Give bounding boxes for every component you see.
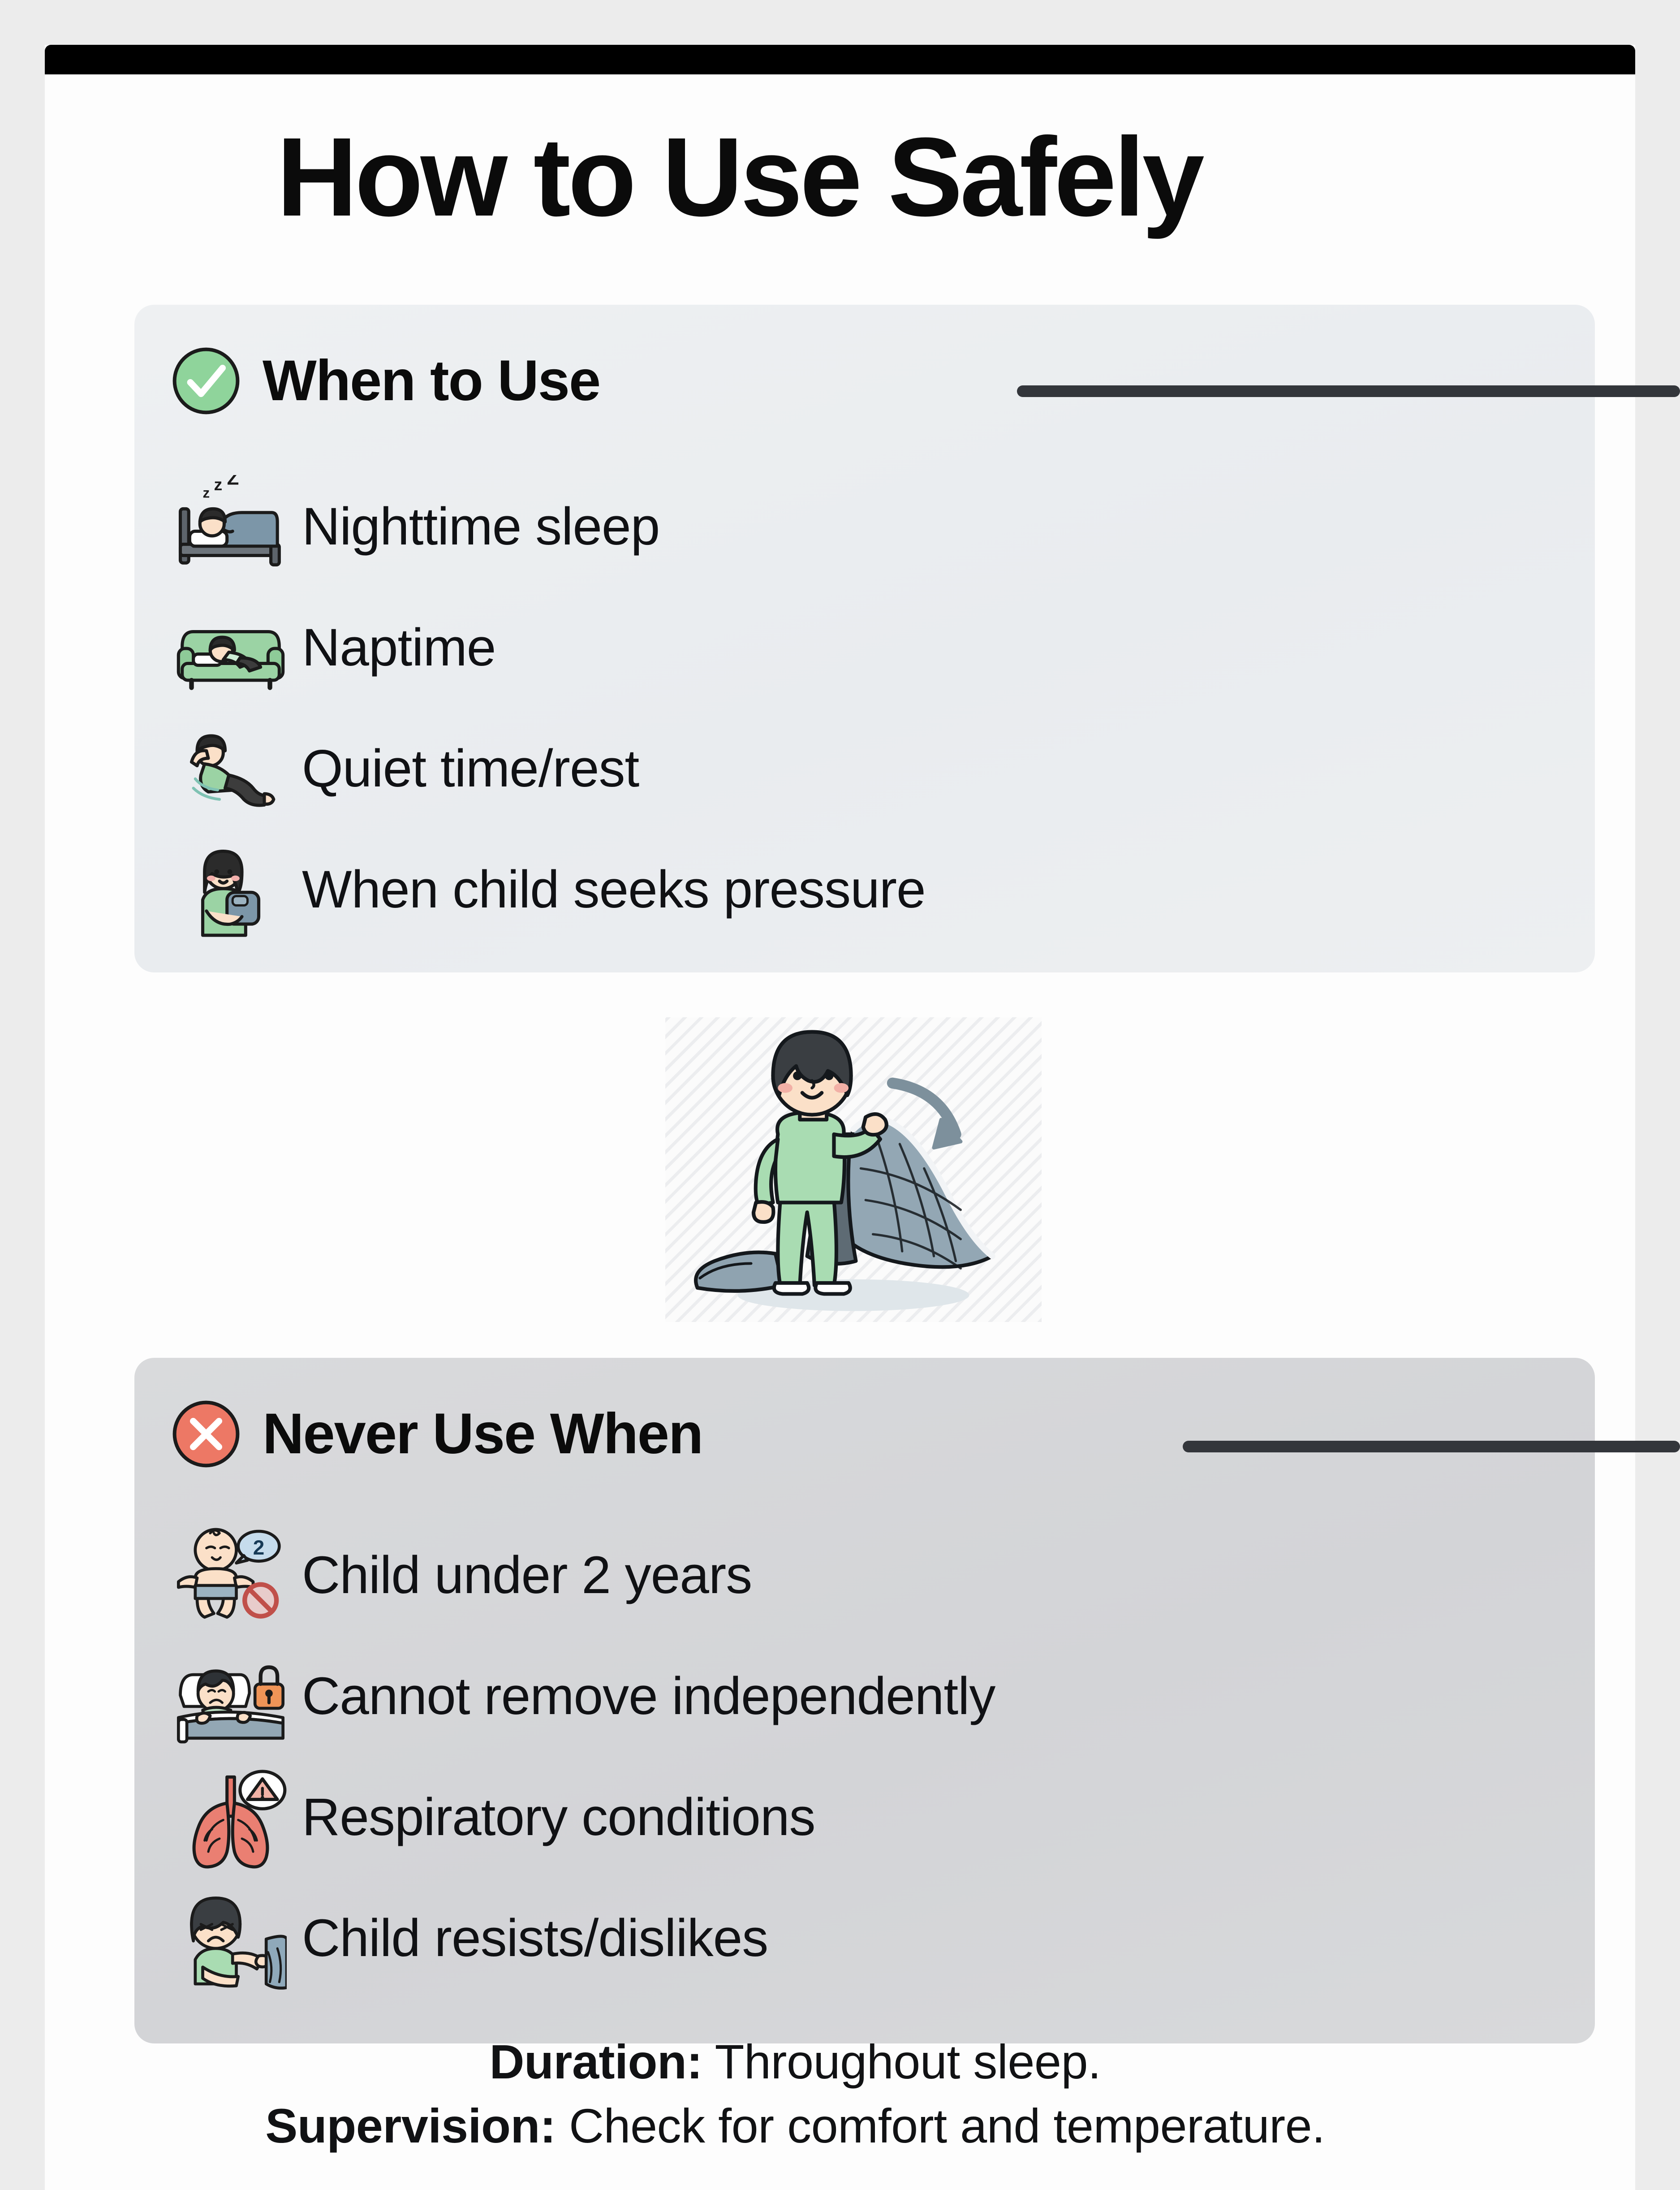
list-item-label: Respiratory conditions [302,1791,815,1844]
list-item-label: Child resists/dislikes [302,1912,768,1965]
child-hugging-blanket-icon [175,838,287,941]
section-card-when-to-use: When to Use [134,305,1595,972]
page-title: How to Use Safely [45,121,1434,233]
svg-text:Z: Z [227,475,239,489]
list-item: z z Z Nighttime sleep [175,466,1564,587]
svg-text:2: 2 [253,1536,265,1559]
list-item: 2 Child under 2 years [175,1515,1564,1636]
poster-surface: How to Use Safely When to Use [45,45,1635,2190]
svg-text:z: z [203,485,210,501]
check-circle-icon [170,345,242,417]
duration-value: Throughout sleep. [715,2034,1101,2089]
list-when-to-use: z z Z Nighttime sleep [175,466,1564,950]
child-in-bed-locked-icon [175,1645,287,1748]
section-divider-never-use-when [1183,1441,1680,1452]
top-accent-bar [45,45,1635,74]
section-title-never-use-when: Never Use When [263,1405,702,1463]
person-resting-icon [175,717,287,820]
list-item-label: Child under 2 years [302,1549,752,1602]
list-item: Child resists/dislikes [175,1878,1564,1999]
supervision-label: Supervision: [265,2099,556,2153]
supervision-value: Check for comfort and temperature. [569,2099,1325,2153]
duration-label: Duration: [489,2034,702,2089]
list-item-label: Naptime [302,621,495,674]
list-item-label: When child seeks pressure [302,863,926,916]
list-item: Naptime [175,587,1564,708]
section-header-never-use-when: Never Use When [170,1398,702,1470]
section-card-never-use-when: Never Use When [134,1358,1595,2043]
person-in-bed-icon: z z Z [175,475,287,578]
svg-text:z: z [214,475,223,494]
section-title-when-to-use: When to Use [263,352,600,410]
list-item-label: Cannot remove independently [302,1670,995,1723]
list-item: Respiratory conditions [175,1757,1564,1878]
section-divider-when-to-use [1017,385,1680,397]
list-item-label: Quiet time/rest [302,742,639,795]
child-removing-weighted-blanket-illustration [665,1017,1042,1322]
list-item: When child seeks pressure [175,829,1564,950]
person-on-couch-icon [175,596,287,699]
baby-age-two-prohibited-icon: 2 [175,1524,287,1627]
section-header-when-to-use: When to Use [170,345,600,417]
x-circle-icon [170,1398,242,1470]
list-never-use-when: 2 Child under 2 years [175,1515,1564,1999]
lungs-warning-icon [175,1766,287,1869]
supervision-note: Supervision: Check for comfort and tempe… [45,2094,1546,2158]
list-item-label: Nighttime sleep [302,500,659,553]
duration-note: Duration: Throughout sleep. [45,2030,1546,2094]
footer-notes: Duration: Throughout sleep. Supervision:… [45,2030,1546,2158]
child-pushing-away-icon [175,1887,287,1990]
list-item: Quiet time/rest [175,708,1564,829]
list-item: Cannot remove independently [175,1636,1564,1757]
